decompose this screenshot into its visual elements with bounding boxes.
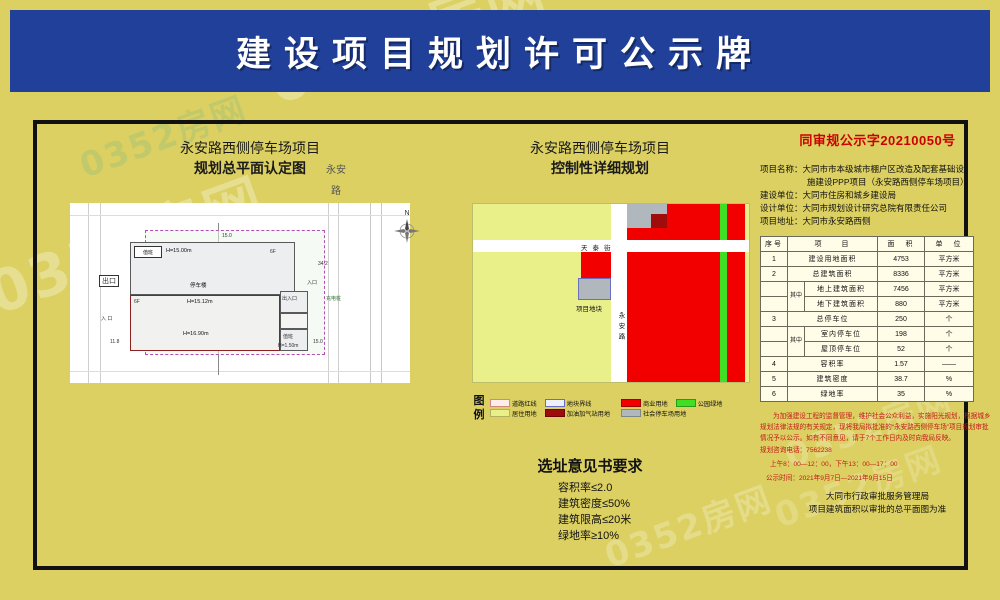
- cell-value: 7456: [878, 282, 925, 297]
- mid-title-line2: 控制性详细规划: [440, 158, 760, 178]
- info-key: 设计单位：: [760, 202, 803, 214]
- info-row-design-unit: 设计单位： 大同市规划设计研究总院有限责任公司: [760, 202, 995, 214]
- spec-table: 序号 项 目 面 积 单 位 1 建设用地面积 4753 平方米 2 总建筑面积…: [760, 236, 974, 402]
- table-row: 6 绿地率 35 %: [761, 387, 974, 402]
- table-row: 其中 室内停车位 198 个: [761, 327, 974, 342]
- table-row: 5 建筑密度 38.7 %: [761, 372, 974, 387]
- cell-item: 总建筑面积: [788, 267, 878, 282]
- signoff: 大同市行政审批服务管理局 项目建筑面积以审批的总平面图为准: [760, 490, 995, 516]
- cell-item: 建设用地面积: [788, 252, 878, 267]
- cell-item: 容积率: [788, 357, 878, 372]
- table-row: 其中 地上建筑面积 7456 平方米: [761, 282, 974, 297]
- cell-no: 4: [761, 357, 788, 372]
- requirement-line: 建筑限高≤20米: [440, 512, 740, 528]
- notice-period: 公示时间：2021年9月7日—2021年9月15日: [760, 473, 995, 484]
- th-unit: 单 位: [925, 237, 974, 252]
- cell-value: 52: [878, 342, 925, 357]
- info-value: 大同市规划设计研究总院有限责任公司: [803, 202, 995, 214]
- requirement-line: 容积率≤2.0: [440, 480, 740, 496]
- cell-value: 880: [878, 297, 925, 312]
- cell-unit: 平方米: [925, 282, 974, 297]
- cell-value: 4753: [878, 252, 925, 267]
- cell-value: 250: [878, 312, 925, 327]
- info-value: 大同市住房和城乡建设局: [803, 189, 995, 201]
- cell-sub-group: 其中: [788, 327, 805, 357]
- page-title: 建设项目规划许可公示牌: [236, 26, 764, 77]
- info-row-project-name-cont: 施建设PPP项目（永安路西侧停车场项目）: [760, 176, 995, 188]
- public-notice: 为加强建设工程的监督管理，维护社会公众利益，实施阳光规划，根据城乡规划法律法规的…: [760, 411, 995, 484]
- info-key: 建设单位：: [760, 189, 803, 201]
- cell-value: 8336: [878, 267, 925, 282]
- info-value: 大同市市本级城市棚户区改造及配套基础设: [803, 163, 995, 175]
- th-no: 序号: [761, 237, 788, 252]
- site-requirements: 选址意见书要求 容积率≤2.0 建筑密度≤50% 建筑限高≤20米 绿地率≥10…: [440, 455, 740, 544]
- cell-unit: 个: [925, 312, 974, 327]
- info-row-project-address: 项目地址： 大同市永安路西侧: [760, 215, 995, 227]
- cell-sub-group: 其中: [788, 282, 805, 312]
- th-value: 面 积: [878, 237, 925, 252]
- table-header-row: 序号 项 目 面 积 单 位: [761, 237, 974, 252]
- table-row: 2 总建筑面积 8336 平方米: [761, 267, 974, 282]
- cell-item: 绿地率: [788, 387, 878, 402]
- notice-paragraph: 为加强建设工程的监督管理，维护社会公众利益，实施阳光规划，根据城乡规划法律法规的…: [760, 411, 995, 444]
- cell-unit: 个: [925, 327, 974, 342]
- cell-item: 地上建筑面积: [805, 282, 878, 297]
- cell-value: 38.7: [878, 372, 925, 387]
- cell-item: 地下建筑面积: [805, 297, 878, 312]
- requirement-line: 建筑密度≤50%: [440, 496, 740, 512]
- cell-unit: %: [925, 372, 974, 387]
- cell-item: 建筑密度: [788, 372, 878, 387]
- th-item: 项 目: [788, 237, 878, 252]
- left-title-line2: 规划总平面认定图: [70, 158, 430, 178]
- cell-unit: 平方米: [925, 297, 974, 312]
- left-panel: 永安路西侧停车场项目 规划总平面认定图: [70, 138, 430, 558]
- table-row: 3 总停车位 250 个: [761, 312, 974, 327]
- info-key: 项目地址：: [760, 215, 803, 227]
- cell-item: 总停车位: [788, 312, 878, 327]
- cell-unit: %: [925, 387, 974, 402]
- table-row: 4 容积率 1.57 ——: [761, 357, 974, 372]
- cell-no: 1: [761, 252, 788, 267]
- cell-value: 35: [878, 387, 925, 402]
- cell-unit: 平方米: [925, 267, 974, 282]
- cell-value: 1.57: [878, 357, 925, 372]
- notice-hours: 上午8：00—12：00，下午13：00—17：00: [760, 459, 995, 470]
- mid-title-line1: 永安路西侧停车场项目: [440, 138, 760, 158]
- mid-panel-title: 永安路西侧停车场项目 控制性详细规划: [440, 138, 760, 178]
- cell-item: 室内停车位: [805, 327, 878, 342]
- cell-unit: 平方米: [925, 252, 974, 267]
- info-value: 大同市永安路西侧: [803, 215, 995, 227]
- cell-value: 198: [878, 327, 925, 342]
- cell-no: 5: [761, 372, 788, 387]
- requirement-line: 绿地率≥10%: [440, 528, 740, 544]
- signoff-authority: 大同市行政审批服务管理局: [760, 490, 995, 503]
- info-key: 项目名称：: [760, 163, 803, 175]
- right-panel: 同审规公示字20210050号 项目名称： 大同市市本级城市棚户区改造及配套基础…: [760, 130, 995, 560]
- cell-unit: 个: [925, 342, 974, 357]
- signoff-note: 项目建筑面积以审批的总平面图为准: [760, 503, 995, 516]
- cell-no: 3: [761, 312, 788, 327]
- cell-unit: ——: [925, 357, 974, 372]
- document-number: 同审规公示字20210050号: [760, 130, 995, 149]
- info-row-project-name: 项目名称： 大同市市本级城市棚户区改造及配套基础设: [760, 163, 995, 175]
- table-row: 1 建设用地面积 4753 平方米: [761, 252, 974, 267]
- page-banner: 建设项目规划许可公示牌: [10, 10, 990, 92]
- info-row-construction-unit: 建设单位： 大同市住房和城乡建设局: [760, 189, 995, 201]
- cell-no: 2: [761, 267, 788, 282]
- cell-no: 6: [761, 387, 788, 402]
- cell-item: 屋顶停车位: [805, 342, 878, 357]
- left-title-line1: 永安路西侧停车场项目: [70, 138, 430, 158]
- notice-phone: 规划咨询电话：7562238: [760, 445, 995, 456]
- requirements-title: 选址意见书要求: [440, 455, 740, 476]
- left-panel-title: 永安路西侧停车场项目 规划总平面认定图: [70, 138, 430, 178]
